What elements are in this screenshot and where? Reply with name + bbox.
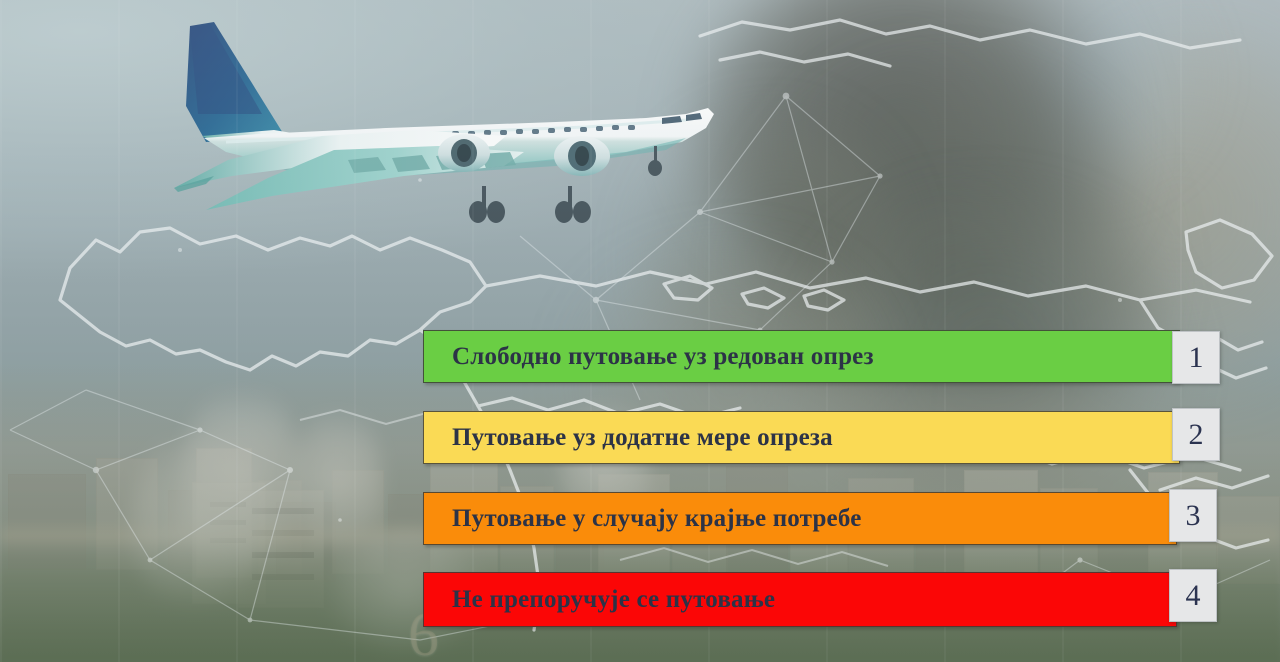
legend-label-level-3: Путовање у случају крајње потребе [424, 505, 862, 533]
travel-advisory-legend: Слободно путовање уз редован опрез 1 Пут… [0, 0, 1280, 662]
legend-number-level-1: 1 [1172, 331, 1220, 384]
legend-label-level-4: Не препоручује се путовање [424, 586, 775, 614]
legend-bar-level-2[interactable]: Путовање уз додатне мере опреза [423, 411, 1180, 464]
legend-label-level-2: Путовање уз додатне мере опреза [424, 424, 833, 452]
legend-bar-level-4[interactable]: Не препоручује се путовање [423, 572, 1177, 627]
slide-canvas: 6 Слободно путовање уз редован опрез 1 П… [0, 0, 1280, 662]
legend-bar-level-3[interactable]: Путовање у случају крајње потребе [423, 492, 1177, 545]
legend-number-level-3: 3 [1169, 489, 1217, 542]
legend-label-level-1: Слободно путовање уз редован опрез [424, 343, 874, 371]
legend-number-level-4: 4 [1169, 569, 1217, 622]
legend-number-level-2: 2 [1172, 408, 1220, 461]
legend-bar-level-1[interactable]: Слободно путовање уз редован опрез [423, 330, 1180, 383]
